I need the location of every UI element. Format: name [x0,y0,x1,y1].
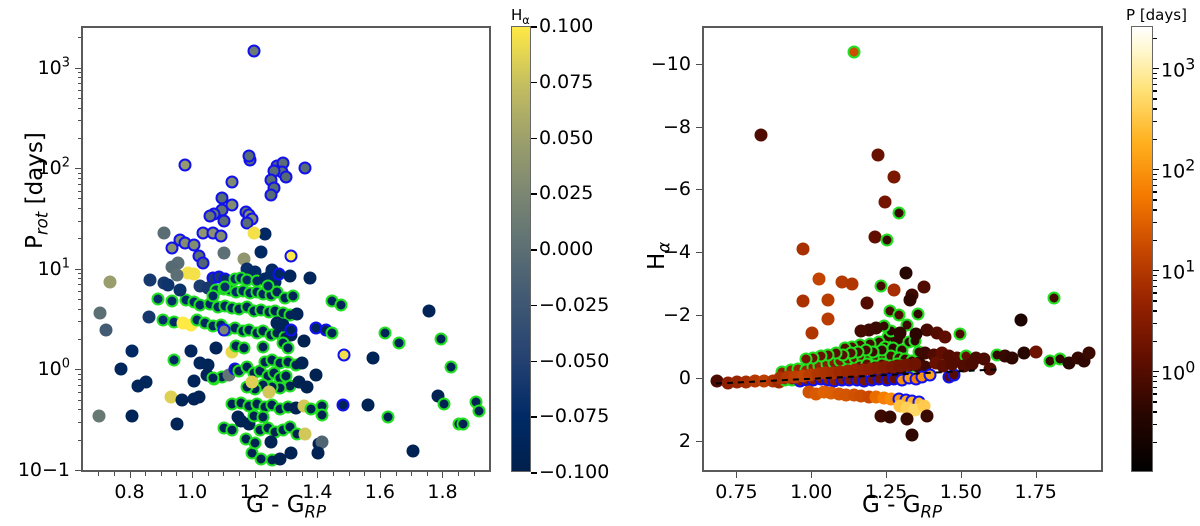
left-x-minor-tick [396,472,397,476]
data-point [175,393,188,406]
right-y-tick-label: −10 [632,53,691,75]
scientific-figure: 0.81.01.21.41.61.8 10−1100101102103 G - … [0,0,1200,526]
right-y-tick [696,441,702,442]
data-point [161,279,174,292]
right-colorbar-minor-tick [1153,73,1157,75]
data-point [271,317,284,330]
data-point [874,279,887,292]
right-colorbar-minor-tick [1153,300,1157,302]
left-axes-frame [81,26,491,472]
data-point [310,368,323,381]
left-y-minor-tick [78,284,82,285]
data-point [192,391,205,404]
left-y-minor-tick [78,184,82,185]
data-point [1048,292,1061,305]
data-point [868,230,881,243]
right-colorbar-minor-tick [1153,286,1157,288]
left-y-minor-tick [78,221,82,222]
left-y-minor-tick [78,379,82,380]
right-colorbar-minor-tick [1153,381,1157,383]
right-axes-frame [702,26,1103,472]
right-colorbar-tick-label: 101 [1161,256,1195,283]
data-point [983,362,996,375]
data-point [282,342,295,355]
right-y-tick-label: 2 [632,430,691,452]
data-point [246,376,259,389]
left-colorbar-tick-label: 0.100 [539,15,593,37]
data-point [855,325,868,338]
left-colorbar-tick [531,305,537,307]
left-x-tick-label: 0.8 [114,481,144,503]
data-point [166,241,179,254]
data-point [297,334,310,347]
data-point [299,427,312,440]
right-colorbar-minor-tick [1153,179,1157,181]
right-y-tick-label: −6 [632,178,691,200]
right-colorbar-minor-tick [1153,341,1157,343]
data-point [92,409,105,422]
right-x-tick-label: 1.00 [790,481,832,503]
data-point [255,245,268,258]
data-point [1082,347,1095,360]
left-y-tick-label: 101 [0,258,70,280]
data-point [286,290,299,303]
data-point [938,331,951,344]
right-x-axis-title: G - GRP [862,492,942,518]
data-point [901,413,914,426]
right-colorbar-minor-tick [1153,387,1157,389]
data-point [100,323,113,336]
data-point [880,234,893,247]
data-point [197,256,210,269]
left-x-minor-tick [364,472,365,476]
data-point [258,228,271,241]
right-x-tick [886,472,887,478]
left-y-minor-tick [78,108,82,109]
data-point [139,376,152,389]
left-y-tick [75,68,81,69]
data-point [846,277,859,290]
data-point [1015,314,1028,327]
left-y-minor-tick [78,90,82,91]
right-colorbar-minor-tick [1153,411,1157,413]
data-point [296,357,309,370]
data-point [184,344,197,357]
left-y-axis-title: Prot [days] [22,132,48,249]
right-x-tick-label: 0.75 [715,481,757,503]
data-point [152,293,165,306]
right-x-tick-label: 1.50 [940,481,982,503]
right-colorbar-title: P [days] [1126,6,1187,24]
right-colorbar-minor-tick [1153,280,1157,282]
left-y-minor-tick [78,238,82,239]
data-point [435,332,448,345]
left-x-minor-tick [349,472,350,476]
data-point [103,275,116,288]
right-colorbar-minor-tick [1153,424,1157,426]
data-point [219,280,232,293]
left-colorbar-tick-label: −0.100 [539,461,609,483]
left-panel-prot-vs-color: 0.81.01.21.41.61.8 10−1100101102103 G - … [0,0,600,526]
data-point [299,162,312,175]
data-point [1030,345,1043,358]
left-y-minor-tick [78,37,82,38]
left-colorbar-tick [531,82,537,84]
right-colorbar-tick [1153,68,1159,70]
right-colorbar-minor-tick [1153,310,1157,312]
right-x-tick-label: 1.75 [1015,481,1057,503]
right-x-tick [736,472,737,478]
left-y-tick [75,369,81,370]
data-point [174,283,187,296]
data-point [908,358,921,371]
data-point [303,271,316,284]
left-y-tick-label: 100 [0,358,70,380]
right-colorbar-minor-tick [1153,191,1157,193]
data-point [1018,347,1031,360]
left-colorbar-tick-label: −0.025 [539,294,609,316]
data-point [871,149,884,162]
data-point [242,150,255,163]
left-x-tick-label: 1.8 [427,481,457,503]
right-y-tick-label: −8 [632,116,691,138]
left-y-minor-tick [78,138,82,139]
right-scatter-points [704,28,1101,470]
left-y-minor-tick [78,120,82,121]
right-colorbar-minor-tick [1153,376,1157,378]
data-point [203,210,216,223]
left-x-tick [380,472,381,478]
data-point [883,411,896,424]
left-y-minor-tick [78,309,82,310]
left-colorbar-tick [531,138,537,140]
right-y-axis-title: Hα [644,242,670,270]
data-point [888,284,901,297]
data-point [861,296,874,309]
data-point [904,293,917,306]
right-colorbar-minor-tick [1153,108,1157,110]
data-point [285,250,298,263]
left-y-minor-tick [78,191,82,192]
data-point [214,230,227,243]
right-colorbar-minor-tick [1153,442,1157,444]
left-y-minor-tick [78,173,82,174]
left-y-minor-tick [78,278,82,279]
data-point [822,312,835,325]
data-point [422,304,435,317]
left-x-minor-tick [458,472,459,476]
left-x-minor-tick [145,472,146,476]
left-x-minor-tick [176,472,177,476]
data-point [910,328,923,341]
left-colorbar-tick [531,26,537,28]
data-point [114,363,127,376]
right-x-tick [961,472,962,478]
left-y-minor-tick [78,339,82,340]
data-point [316,408,329,421]
data-point [210,342,223,355]
left-colorbar-tick-label: 0.050 [539,127,593,149]
right-y-tick-label: 0 [632,367,691,389]
data-point [249,436,262,449]
right-colorbar-minor-tick [1153,240,1157,242]
right-panel-halpha-vs-color: 0.751.001.251.501.75 −10−8−6−4−202 G - G… [600,0,1200,526]
left-x-minor-tick [208,472,209,476]
data-point [338,349,351,362]
left-x-tick [317,472,318,478]
left-y-minor-tick [78,440,82,441]
left-y-minor-tick [78,422,82,423]
left-x-tick-label: 1.0 [177,481,207,503]
data-point [920,409,933,422]
data-point [822,293,835,306]
data-point [923,369,936,382]
data-point [847,45,860,58]
right-colorbar-minor-tick [1153,209,1157,211]
data-point [170,417,183,430]
data-point [291,308,304,321]
right-y-tick [696,315,702,316]
data-point [366,352,379,365]
left-x-minor-tick [474,472,475,476]
left-y-minor-tick [78,72,82,73]
left-x-minor-tick [302,472,303,476]
data-point [217,247,230,260]
data-point [905,428,918,441]
data-point [217,215,230,228]
left-x-minor-tick [223,472,224,476]
left-y-minor-tick [78,178,82,179]
left-y-minor-tick [78,385,82,386]
data-point [438,398,451,411]
right-colorbar-period [1131,26,1153,472]
data-point [178,159,191,172]
data-point [311,446,324,459]
left-colorbar-tick-label: 0.075 [539,71,593,93]
data-point [917,281,930,294]
data-point [472,405,485,418]
left-x-minor-tick [427,472,428,476]
data-point [953,328,966,341]
data-point [285,324,298,337]
data-point [799,353,812,366]
data-point [796,295,809,308]
left-x-tick-label: 1.6 [365,481,395,503]
data-point [892,207,905,220]
right-y-tick [696,189,702,190]
right-colorbar-tick [1153,169,1159,171]
right-colorbar-minor-tick [1153,185,1157,187]
data-point [256,411,269,424]
right-colorbar-minor-tick [1153,98,1157,100]
data-point [393,337,406,350]
right-colorbar-minor-tick [1153,222,1157,224]
data-point [280,170,293,183]
left-colorbar-tick-label: 0.000 [539,238,593,260]
left-x-minor-tick [114,472,115,476]
left-y-minor-tick [78,77,82,78]
data-point [247,44,260,57]
right-colorbar-minor-tick [1153,84,1157,86]
left-colorbar-tick-label: 0.025 [539,182,593,204]
data-point [361,399,374,412]
data-point [911,307,924,320]
left-y-minor-tick [78,98,82,99]
data-point [238,342,251,355]
left-colorbar-tick [531,361,537,363]
data-point [754,128,767,141]
data-point [125,344,138,357]
left-colorbar-halpha [511,26,531,472]
left-colorbar-title: Hα [511,6,530,27]
data-point [336,399,349,412]
data-point [379,327,392,340]
data-point [444,361,457,374]
data-point [285,446,298,459]
data-point [94,306,107,319]
left-colorbar-tick-label: −0.075 [539,405,609,427]
data-point [407,445,420,458]
right-colorbar-minor-tick [1153,292,1157,294]
right-colorbar-minor-tick [1153,78,1157,80]
right-colorbar-minor-tick [1153,90,1157,92]
left-y-minor-tick [78,198,82,199]
left-colorbar-tick [531,472,537,474]
right-y-tick-label: −2 [632,304,691,326]
left-colorbar-tick [531,249,537,251]
right-colorbar-minor-tick [1153,401,1157,403]
left-y-minor-tick [78,409,82,410]
right-y-tick [696,378,702,379]
data-point [965,358,978,371]
data-point [264,188,277,201]
left-y-minor-tick [78,321,82,322]
left-x-tick [192,472,193,478]
data-point [300,380,313,393]
left-x-minor-tick [270,472,271,476]
left-y-tick-label: 103 [0,57,70,79]
left-y-minor-tick [78,392,82,393]
data-point [206,290,219,303]
left-y-minor-tick [78,83,82,84]
left-y-minor-tick [78,299,82,300]
data-point [144,274,157,287]
right-x-tick [1036,472,1037,478]
data-point [231,411,244,424]
right-colorbar-tick-label: 103 [1161,54,1195,81]
right-colorbar-minor-tick [1153,38,1157,40]
right-x-tick [811,472,812,478]
left-x-minor-tick [411,472,412,476]
left-scatter-points [83,28,489,470]
data-point [382,411,395,424]
data-point [142,310,155,323]
right-colorbar-minor-tick [1153,139,1157,141]
left-y-tick [75,269,81,270]
left-x-tick [442,472,443,478]
right-colorbar-minor-tick [1153,199,1157,201]
data-point [217,323,230,336]
right-colorbar-tick-label: 100 [1161,357,1195,384]
data-point [335,298,348,311]
left-y-tick [75,168,81,169]
data-point [457,417,470,430]
left-x-axis-title: G - GRP [246,492,326,518]
data-point [947,369,960,382]
data-point [325,327,338,340]
data-point [225,176,238,189]
data-point [888,171,901,184]
data-point [264,435,277,448]
right-colorbar-tick-label: 102 [1161,155,1195,182]
data-point [125,409,138,422]
left-x-tick [130,472,131,478]
data-point [879,196,892,209]
left-y-minor-tick [78,208,82,209]
left-colorbar-tick-label: −0.050 [539,350,609,372]
data-point [805,326,818,339]
left-colorbar-tick [531,193,537,195]
data-point [158,226,171,239]
data-point [263,386,276,399]
left-y-minor-tick [78,291,82,292]
data-point [167,353,180,366]
left-x-minor-tick [98,472,99,476]
data-point [261,280,274,293]
left-y-tick-label: 10−1 [0,459,70,481]
right-colorbar-tick [1153,371,1159,373]
data-point [188,374,201,387]
data-point [188,267,201,280]
left-x-minor-tick [239,472,240,476]
right-y-tick [696,252,702,253]
right-colorbar-minor-tick [1153,393,1157,395]
left-x-minor-tick [161,472,162,476]
left-y-minor-tick [78,273,82,274]
left-x-minor-tick [286,472,287,476]
right-colorbar-minor-tick [1153,275,1157,277]
right-colorbar-minor-tick [1153,323,1157,325]
data-point [166,294,179,307]
left-colorbar-tick [531,416,537,418]
left-y-minor-tick [78,400,82,401]
data-point [894,326,907,339]
data-point [256,340,269,353]
left-x-minor-tick [333,472,334,476]
right-y-tick [696,64,702,65]
data-point [813,273,826,286]
left-x-tick [255,472,256,478]
left-y-minor-tick [78,374,82,375]
data-point [206,372,219,385]
right-colorbar-tick [1153,270,1159,272]
data-point [283,270,296,283]
data-point [899,266,912,279]
data-point [796,243,809,256]
right-colorbar-minor-tick [1153,174,1157,176]
left-y-tick [75,470,81,471]
right-y-tick [696,127,702,128]
right-colorbar-minor-tick [1153,121,1157,123]
data-point [247,226,260,239]
